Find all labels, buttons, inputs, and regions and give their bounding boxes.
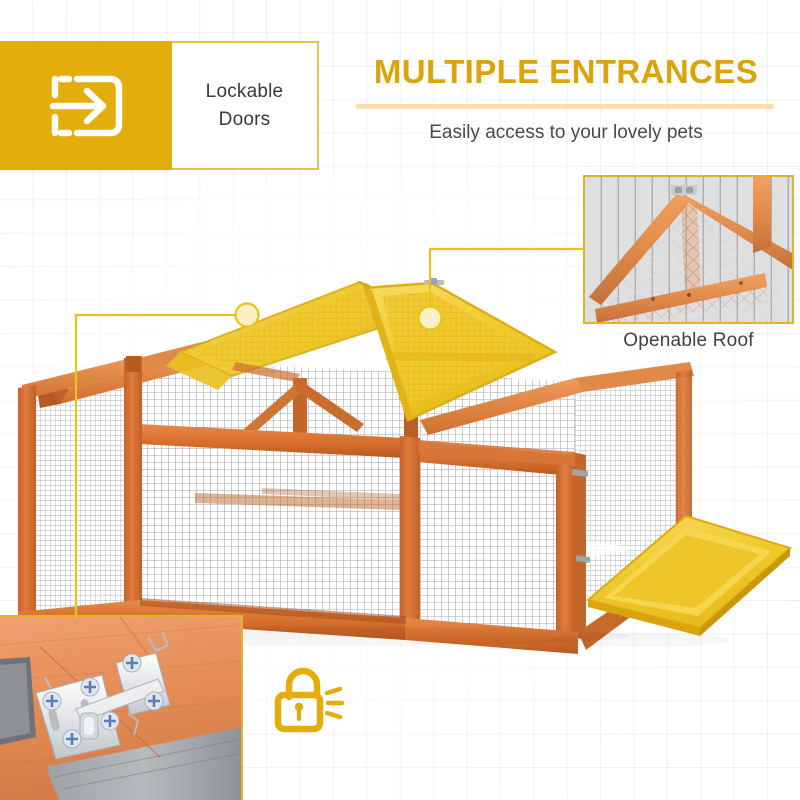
header-block: MULTIPLE ENTRANCES Easily access to your…	[356, 52, 776, 146]
badge-label: Lockable Doors	[206, 78, 284, 134]
infographic-page: Openable Roof	[0, 0, 800, 800]
badge-text-block: Lockable Doors	[172, 41, 319, 170]
inset-openable-roof	[583, 175, 794, 324]
inset-lock-detail	[0, 615, 243, 800]
badge-label-line1: Lockable	[206, 81, 284, 102]
feature-badge-lockable-doors: Lockable Doors	[0, 41, 319, 170]
open-padlock-icon	[272, 661, 346, 739]
page-subtitle: Easily access to your lovely pets	[356, 120, 776, 146]
badge-label-line2: Doors	[219, 109, 271, 130]
page-title: MULTIPLE ENTRANCES	[356, 52, 776, 92]
enter-door-arrow-icon	[47, 73, 125, 139]
inset-roof-caption: Openable Roof	[583, 330, 794, 352]
badge-icon-block	[0, 41, 172, 170]
title-underline	[356, 104, 774, 109]
